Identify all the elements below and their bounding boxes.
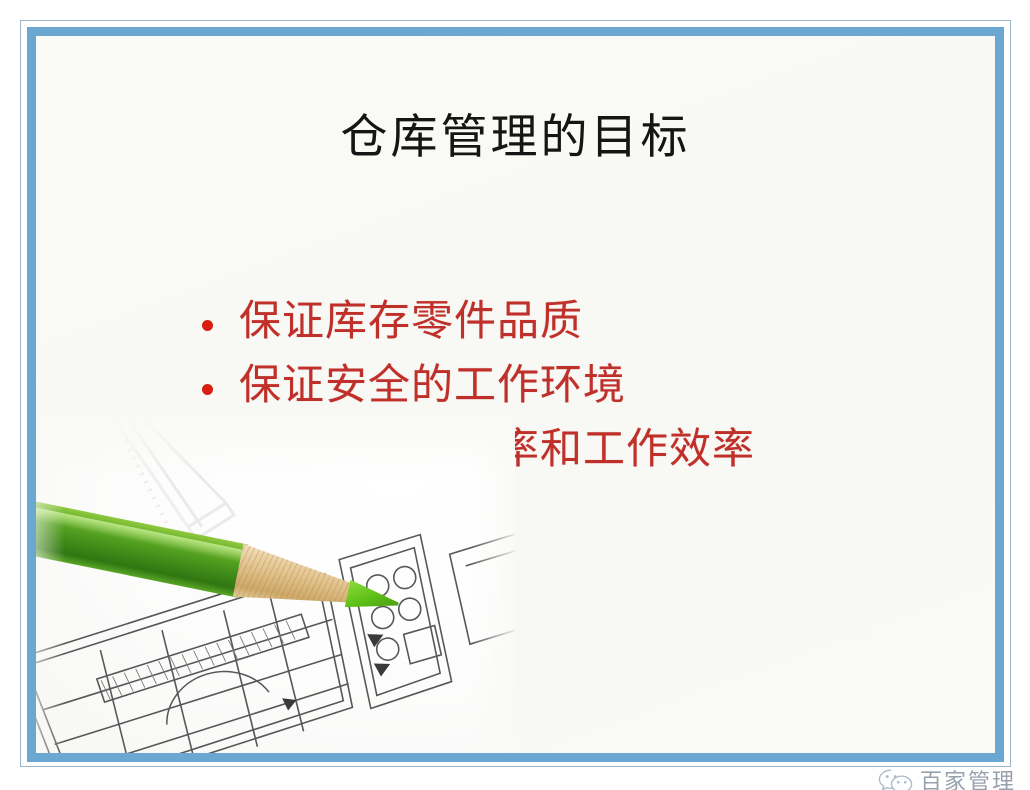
watermark-account-name: 百家管理 xyxy=(920,764,1016,790)
bullet-item-safety: 保证安全的工作环境 xyxy=(194,358,974,414)
wechat-icon xyxy=(877,767,913,790)
pencil-blueprint-photo: azienka owe xyxy=(36,413,515,753)
presentation-slide: 仓库管理的目标 保证库存零件品质 保证安全的工作环境 提高空间利用率和工作效率 xyxy=(0,0,1030,790)
wechat-watermark: 百家管理 xyxy=(877,764,1016,790)
slide-title: 仓库管理的目标 xyxy=(36,112,995,165)
bullet-item-quality: 保证库存零件品质 xyxy=(194,294,974,350)
slide-content-area: 仓库管理的目标 保证库存零件品质 保证安全的工作环境 提高空间利用率和工作效率 xyxy=(36,36,995,753)
pencil-wood-grain xyxy=(233,544,359,620)
